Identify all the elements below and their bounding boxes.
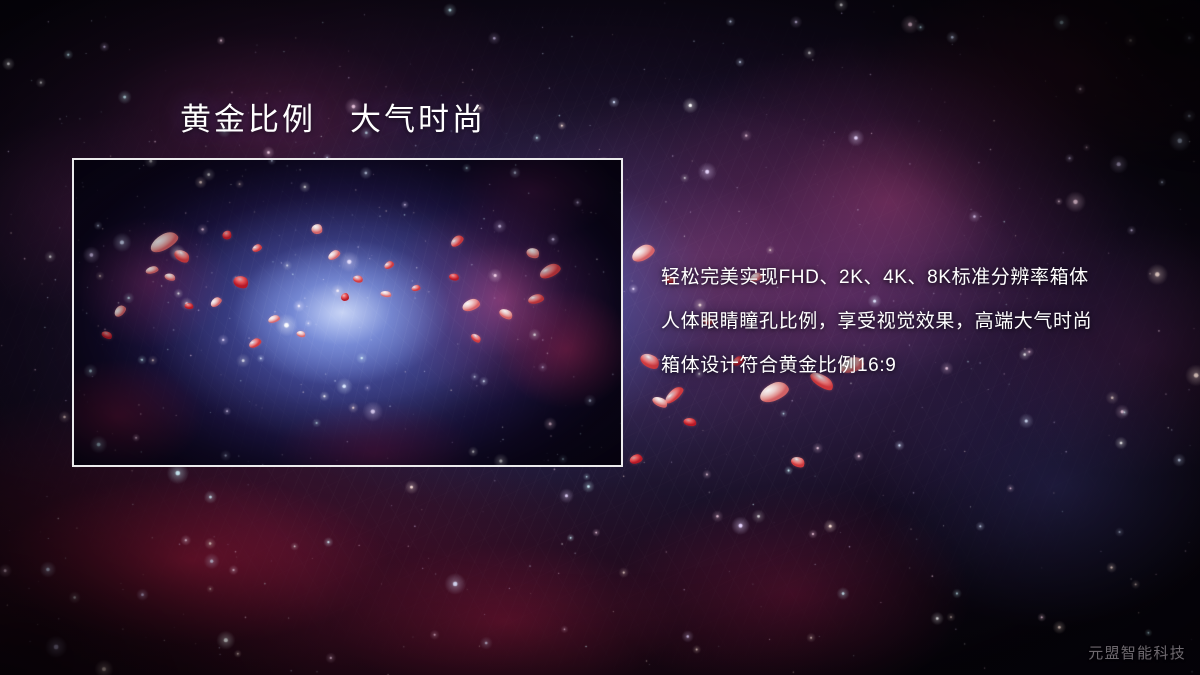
flower-petal: [629, 242, 657, 265]
flower-petal: [629, 453, 644, 465]
body-line: 人体眼睛瞳孔比例，享受视觉效果，高端大气时尚: [661, 300, 1181, 344]
photo-frame-image: [74, 160, 621, 465]
watermark: 元盟智能科技: [1088, 642, 1186, 663]
body-line: 箱体设计符合黄金比例16:9: [661, 344, 1181, 388]
frame-vignette: [74, 160, 621, 465]
flower-petal: [790, 455, 807, 470]
flower-petal: [638, 350, 662, 372]
presentation-slide: 黄金比例 大气时尚 轻松完美实现FHD、2K、4K、8K标准分辨率箱体 人体眼睛…: [0, 0, 1200, 675]
photo-frame: [72, 158, 623, 467]
body-line: 轻松完美实现FHD、2K、4K、8K标准分辨率箱体: [661, 256, 1181, 300]
flower-petal: [651, 394, 669, 409]
page-title: 黄金比例 大气时尚: [180, 101, 486, 139]
flower-petal: [683, 417, 697, 428]
body-text-block: 轻松完美实现FHD、2K、4K、8K标准分辨率箱体 人体眼睛瞳孔比例，享受视觉效…: [661, 256, 1181, 388]
